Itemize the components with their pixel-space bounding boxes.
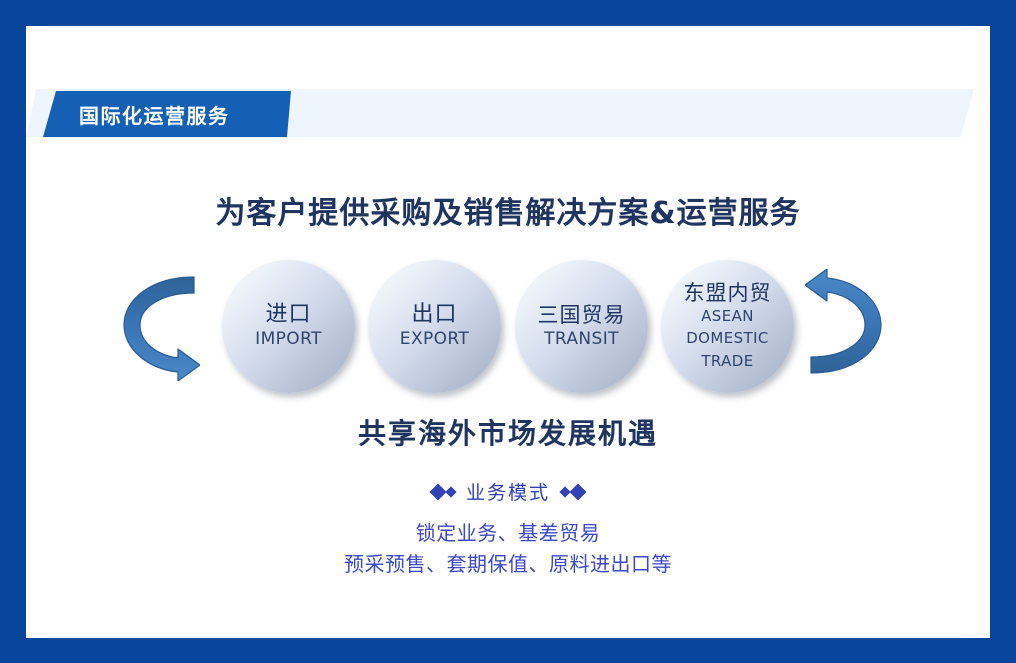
page-title: 为客户提供采购及销售解决方案&运营服务 bbox=[26, 188, 990, 232]
circle-label-cn: 东盟内贸 bbox=[684, 281, 772, 305]
circle-label-en-line2: DOMESTIC bbox=[686, 328, 769, 349]
circle-label-en: TRANSIT bbox=[544, 329, 619, 351]
business-mode-heading: 业务模式 bbox=[26, 478, 990, 505]
circle-label-cn: 进口 bbox=[265, 302, 311, 327]
process-circle-asean-domestic-trade: 东盟内贸 ASEAN DOMESTIC TRADE bbox=[661, 260, 794, 393]
process-diagram: 进口 IMPORT 出口 EXPORT 三国贸易 TRANSIT 东盟内贸 AS… bbox=[26, 255, 990, 403]
diamond-icon bbox=[445, 486, 456, 497]
slide-page: 国际化运营服务 为客户提供采购及销售解决方案&运营服务 bbox=[26, 26, 990, 638]
business-mode-label: 业务模式 bbox=[466, 478, 550, 505]
diamond-decoration-left bbox=[432, 486, 455, 498]
circle-label-en-line3: TRADE bbox=[701, 351, 753, 372]
business-mode-list: 锁定业务、基差贸易 预采预售、套期保值、原料进出口等 bbox=[26, 518, 990, 580]
curved-arrow-left-icon bbox=[805, 269, 887, 381]
header-tab-label: 国际化运营服务 bbox=[79, 100, 230, 129]
diamond-icon bbox=[570, 483, 587, 500]
diamond-icon bbox=[559, 486, 570, 497]
sub-headline: 共享海外市场发展机遇 bbox=[26, 412, 990, 452]
list-item: 预采预售、套期保值、原料进出口等 bbox=[26, 549, 990, 580]
circle-label-en: IMPORT bbox=[255, 329, 322, 351]
circle-label-cn: 三国贸易 bbox=[538, 303, 626, 327]
diamond-decoration-right bbox=[561, 486, 584, 498]
circle-label-en: EXPORT bbox=[400, 329, 469, 351]
circle-label-en-line1: ASEAN bbox=[701, 306, 754, 327]
process-circle-export: 出口 EXPORT bbox=[368, 260, 501, 393]
process-circle-import: 进口 IMPORT bbox=[222, 260, 355, 393]
circle-label-cn: 出口 bbox=[411, 302, 457, 327]
header-tab: 国际化运营服务 bbox=[43, 91, 291, 137]
list-item: 锁定业务、基差贸易 bbox=[26, 518, 990, 549]
slide-frame: 国际化运营服务 为客户提供采购及销售解决方案&运营服务 bbox=[0, 0, 1016, 663]
curved-arrow-right-icon bbox=[118, 269, 200, 381]
process-circle-transit: 三国贸易 TRANSIT bbox=[515, 260, 648, 393]
